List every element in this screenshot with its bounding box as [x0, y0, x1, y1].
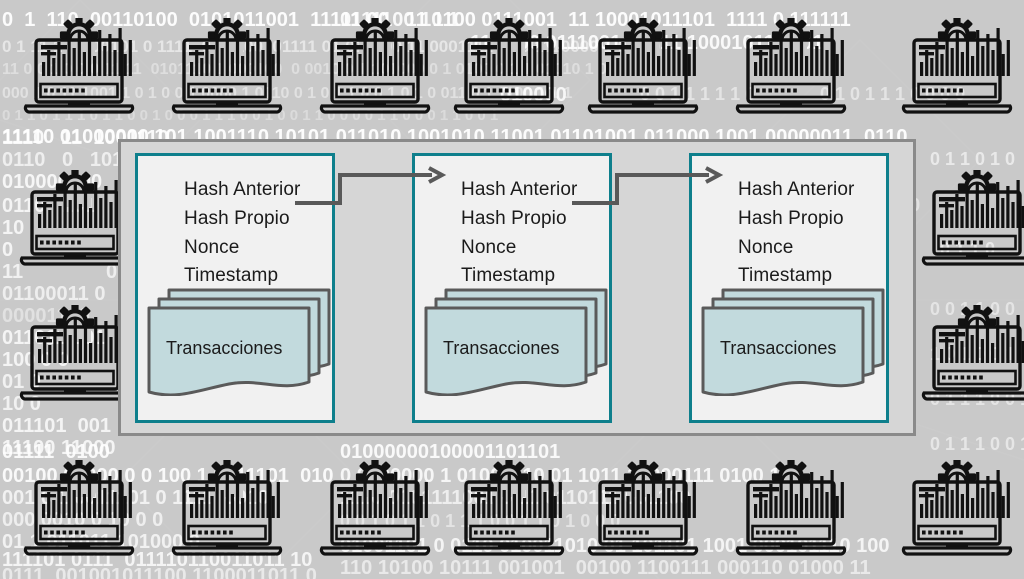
laptop-gear-node-top-2 — [170, 18, 284, 118]
block-field-hash-propio: Hash Propio — [461, 207, 577, 231]
laptop-gear-node-bottom-5 — [586, 460, 700, 560]
laptop-gear-icon — [318, 18, 432, 118]
binary-text: 0110 0 101 — [2, 150, 123, 170]
laptop-gear-node-top-3 — [318, 18, 432, 118]
block-field-hash-propio: Hash Propio — [738, 207, 854, 231]
laptop-gear-node-bottom-3 — [318, 460, 432, 560]
laptop-gear-icon — [18, 305, 132, 405]
laptop-gear-icon — [920, 305, 1024, 405]
block-field-nonce: Nonce — [184, 236, 300, 260]
binary-text: 01100011 0 — [2, 284, 105, 304]
block-field-hash-anterior: Hash Anterior — [184, 178, 300, 202]
laptop-gear-icon — [22, 18, 136, 118]
laptop-gear-node-right-1 — [920, 170, 1024, 270]
laptop-gear-node-right-2 — [920, 305, 1024, 405]
laptop-gear-icon — [586, 18, 700, 118]
binary-text: 01000000100001101101 — [340, 442, 560, 462]
laptop-gear-icon — [900, 18, 1014, 118]
laptop-gear-icon — [734, 460, 848, 560]
laptop-gear-node-bottom-4 — [452, 460, 566, 560]
laptop-gear-node-top-6 — [734, 18, 848, 118]
binary-text: 0 — [2, 240, 13, 260]
transactions-label: Transacciones — [720, 338, 836, 359]
binary-text: 01111 0100 — [2, 442, 110, 462]
laptop-gear-icon — [452, 460, 566, 560]
laptop-gear-node-bottom-1 — [22, 460, 136, 560]
block-card-3[interactable]: Hash AnteriorHash PropioNonceTimestamp T… — [689, 153, 889, 423]
block-field-list: Hash AnteriorHash PropioNonceTimestamp — [461, 178, 577, 288]
laptop-gear-node-bottom-7 — [900, 460, 1014, 560]
block-card-1[interactable]: Hash AnteriorHash PropioNonceTimestamp T… — [135, 153, 335, 423]
laptop-gear-node-top-1 — [22, 18, 136, 118]
binary-text: 110 10100 10111 001001 00100 1100111 000… — [340, 558, 871, 578]
transactions-label: Transacciones — [166, 338, 282, 359]
diagram-canvas: 0 1 110 00110100 0101011001 11111 00 11 … — [0, 0, 1024, 579]
block-card-2[interactable]: Hash AnteriorHash PropioNonceTimestamp T… — [412, 153, 612, 423]
binary-text: 0 1 1 1 0 0 1 0 1 — [930, 435, 1024, 453]
laptop-gear-icon — [18, 170, 132, 270]
block-field-list: Hash AnteriorHash PropioNonceTimestamp — [184, 178, 300, 288]
laptop-gear-icon — [920, 170, 1024, 270]
laptop-gear-node-bottom-6 — [734, 460, 848, 560]
block-field-list: Hash AnteriorHash PropioNonceTimestamp — [738, 178, 854, 288]
transactions-label: Transacciones — [443, 338, 559, 359]
binary-text: 0 1 1 0 1 0 — [930, 150, 1015, 168]
laptop-gear-icon — [734, 18, 848, 118]
laptop-gear-icon — [586, 460, 700, 560]
laptop-gear-icon — [452, 18, 566, 118]
laptop-gear-icon — [900, 460, 1014, 560]
laptop-gear-icon — [22, 460, 136, 560]
block-field-hash-anterior: Hash Anterior — [461, 178, 577, 202]
laptop-gear-node-top-7 — [900, 18, 1014, 118]
laptop-gear-node-bottom-2 — [170, 460, 284, 560]
laptop-gear-icon — [170, 460, 284, 560]
block-field-hash-anterior: Hash Anterior — [738, 178, 854, 202]
block-field-nonce: Nonce — [738, 236, 854, 260]
binary-text: 011101 001 — [2, 416, 111, 436]
laptop-gear-icon — [170, 18, 284, 118]
binary-text: 0111 001001011100 1100011011 0 — [2, 566, 317, 579]
block-field-nonce: Nonce — [461, 236, 577, 260]
laptop-gear-icon — [318, 460, 432, 560]
laptop-gear-node-top-4 — [452, 18, 566, 118]
block-field-hash-propio: Hash Propio — [184, 207, 300, 231]
laptop-gear-node-top-5 — [586, 18, 700, 118]
laptop-gear-node-left-2 — [18, 305, 132, 405]
laptop-gear-node-left-1 — [18, 170, 132, 270]
